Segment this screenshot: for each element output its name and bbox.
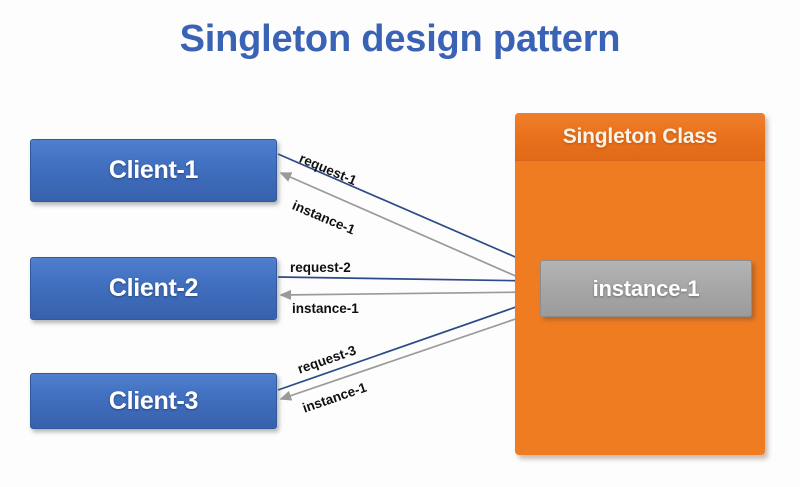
edge-label-request-2: request-2 <box>290 260 351 275</box>
arrow-request-2 <box>278 277 536 281</box>
arrow-instance-2 <box>281 292 536 295</box>
client-box-3[interactable]: Client-3 <box>30 373 277 429</box>
instance-box-label: instance-1 <box>593 276 700 302</box>
client-box-1[interactable]: Client-1 <box>30 139 277 202</box>
instance-box[interactable]: instance-1 <box>540 260 752 317</box>
client-2-label: Client-2 <box>109 274 198 303</box>
client-3-label: Client-3 <box>109 387 198 416</box>
client-1-label: Client-1 <box>109 156 198 185</box>
singleton-class-title: Singleton Class <box>563 125 718 149</box>
client-box-2[interactable]: Client-2 <box>30 257 277 320</box>
singleton-class-header: Singleton Class <box>515 113 765 161</box>
diagram-canvas: Singleton design pattern Client-1 Client… <box>0 0 800 487</box>
edge-label-instance-2: instance-1 <box>292 301 359 316</box>
